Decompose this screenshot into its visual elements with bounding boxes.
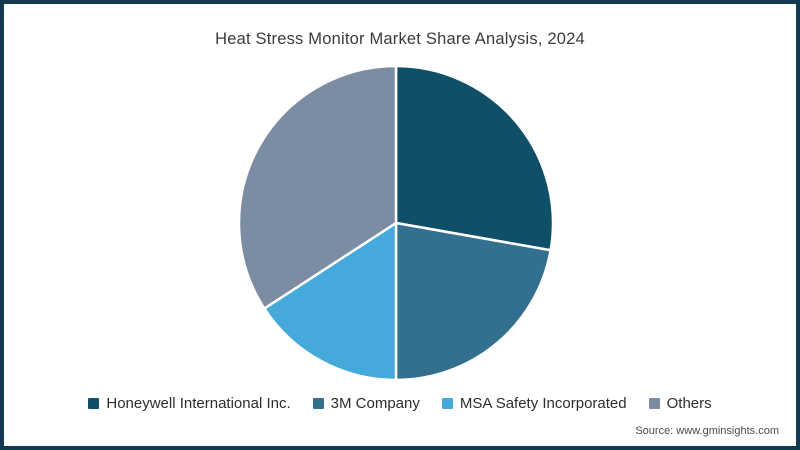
page-title: Heat Stress Monitor Market Share Analysi…	[4, 30, 796, 49]
pie-chart-area	[4, 62, 796, 384]
chart-figure-frame: Heat Stress Monitor Market Share Analysi…	[0, 0, 800, 450]
pie-slice[interactable]	[396, 223, 551, 380]
pie-slice[interactable]	[396, 66, 553, 250]
legend-item-label: Honeywell International Inc.	[106, 396, 290, 411]
pie-slice-group	[239, 66, 553, 380]
legend-item-label: 3M Company	[331, 396, 420, 411]
pie-chart	[235, 62, 565, 384]
legend-swatch-icon	[313, 398, 324, 409]
legend-swatch-icon	[88, 398, 99, 409]
legend-item[interactable]: Honeywell International Inc.	[88, 396, 290, 411]
source-attribution: Source: www.gminsights.com	[635, 425, 779, 437]
chart-legend: Honeywell International Inc.3M CompanyMS…	[4, 396, 796, 411]
legend-item[interactable]: Others	[649, 396, 712, 411]
legend-item[interactable]: MSA Safety Incorporated	[442, 396, 627, 411]
legend-item[interactable]: 3M Company	[313, 396, 420, 411]
legend-item-label: MSA Safety Incorporated	[460, 396, 627, 411]
legend-swatch-icon	[442, 398, 453, 409]
legend-item-label: Others	[667, 396, 712, 411]
legend-swatch-icon	[649, 398, 660, 409]
